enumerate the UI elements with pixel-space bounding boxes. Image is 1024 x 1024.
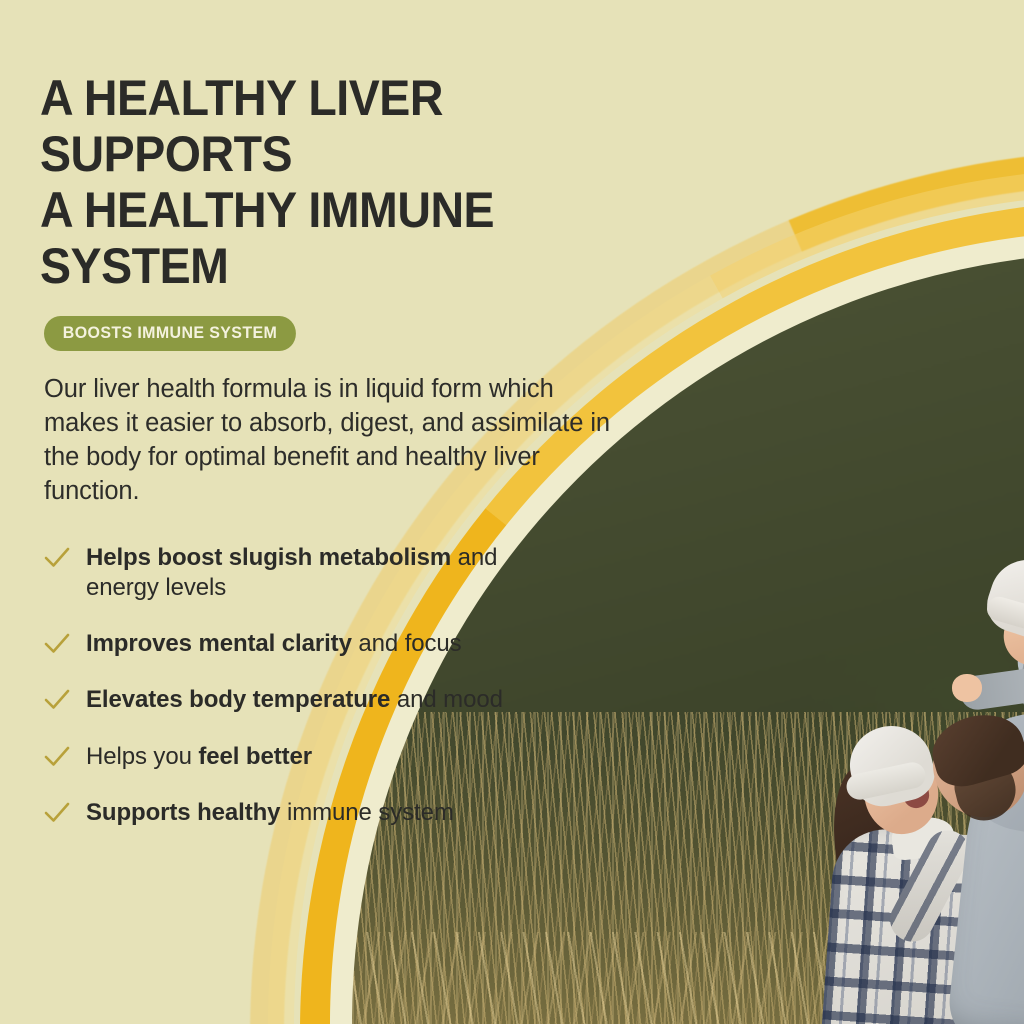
check-icon [44,545,70,571]
intro-paragraph: Our liver health formula is in liquid fo… [44,373,632,509]
content-column: A HEALTHY LIVER SUPPORTS A HEALTHY IMMUN… [0,0,660,854]
check-icon [44,687,70,713]
benefit-lead-text: Helps you [86,743,198,770]
benefits-list: Helps boost slugish metabolism and energ… [40,543,660,828]
check-icon [44,744,70,770]
benefit-bold-text: Supports healthy [86,799,280,826]
status-badge: BOOSTS IMMUNE SYSTEM [44,316,296,351]
list-item: Supports healthy immune system [40,798,556,828]
check-icon [44,631,70,657]
benefit-bold-text: Elevates body temperature [86,686,390,713]
benefit-bold-text: feel better [198,743,312,770]
check-icon [44,800,70,826]
benefit-bold-text: Improves mental clarity [86,630,352,657]
benefit-rest-text: and focus [352,630,462,657]
page-title: A HEALTHY LIVER SUPPORTS A HEALTHY IMMUN… [40,70,617,294]
list-item: Improves mental clarity and focus [40,629,556,659]
poster-canvas: A HEALTHY LIVER SUPPORTS A HEALTHY IMMUN… [0,0,1024,1024]
benefit-rest-text: and mood [390,686,503,713]
list-item: Helps boost slugish metabolism and energ… [40,543,556,603]
benefit-bold-text: Helps boost slugish metabolism [86,544,451,571]
list-item: Helps you feel better [40,742,556,772]
benefit-rest-text: immune system [280,799,453,826]
list-item: Elevates body temperature and mood [40,685,556,715]
